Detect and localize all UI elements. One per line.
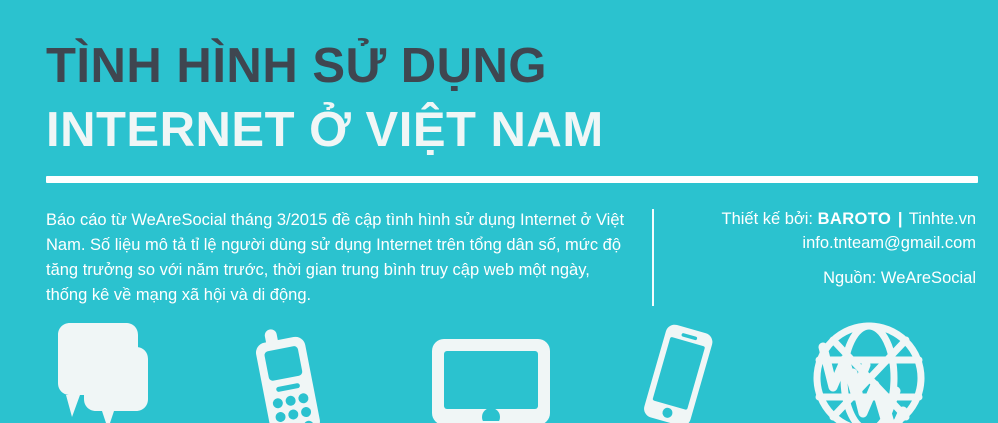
- designer-line: Thiết kế bởi: BAROTO | Tinhte.vn: [664, 207, 976, 231]
- credit-email: info.tnteam@gmail.com: [664, 231, 976, 255]
- credits-divider: [652, 209, 654, 306]
- credits-block: Thiết kế bởi: BAROTO | Tinhte.vn info.tn…: [664, 207, 976, 290]
- desktop-monitor-icon: [430, 321, 552, 423]
- credit-separator: |: [896, 210, 905, 228]
- feature-phone-icon: [252, 321, 344, 423]
- smartphone-icon: [634, 321, 720, 423]
- credit-source: Nguồn: WeAreSocial: [664, 266, 976, 290]
- header-divider: [46, 176, 978, 183]
- infographic-header: TÌNH HÌNH SỬ DỤNG INTERNET Ở VIỆT NAM Bá…: [0, 0, 998, 423]
- designer-name: BAROTO: [818, 210, 892, 228]
- www-globe-icon: [806, 315, 932, 423]
- designer-label: Thiết kế bởi:: [721, 210, 813, 228]
- page-title-line-1: TÌNH HÌNH SỬ DỤNG: [46, 38, 976, 94]
- credit-site: Tinhte.vn: [909, 210, 976, 228]
- page-title-line-2: INTERNET Ở VIỆT NAM: [46, 102, 976, 158]
- title-block: TÌNH HÌNH SỬ DỤNG INTERNET Ở VIỆT NAM: [46, 38, 976, 158]
- intro-paragraph: Báo cáo từ WeAreSocial tháng 3/2015 đề c…: [46, 208, 632, 308]
- icon-row: [0, 322, 998, 423]
- chat-bubbles-icon: [40, 321, 210, 423]
